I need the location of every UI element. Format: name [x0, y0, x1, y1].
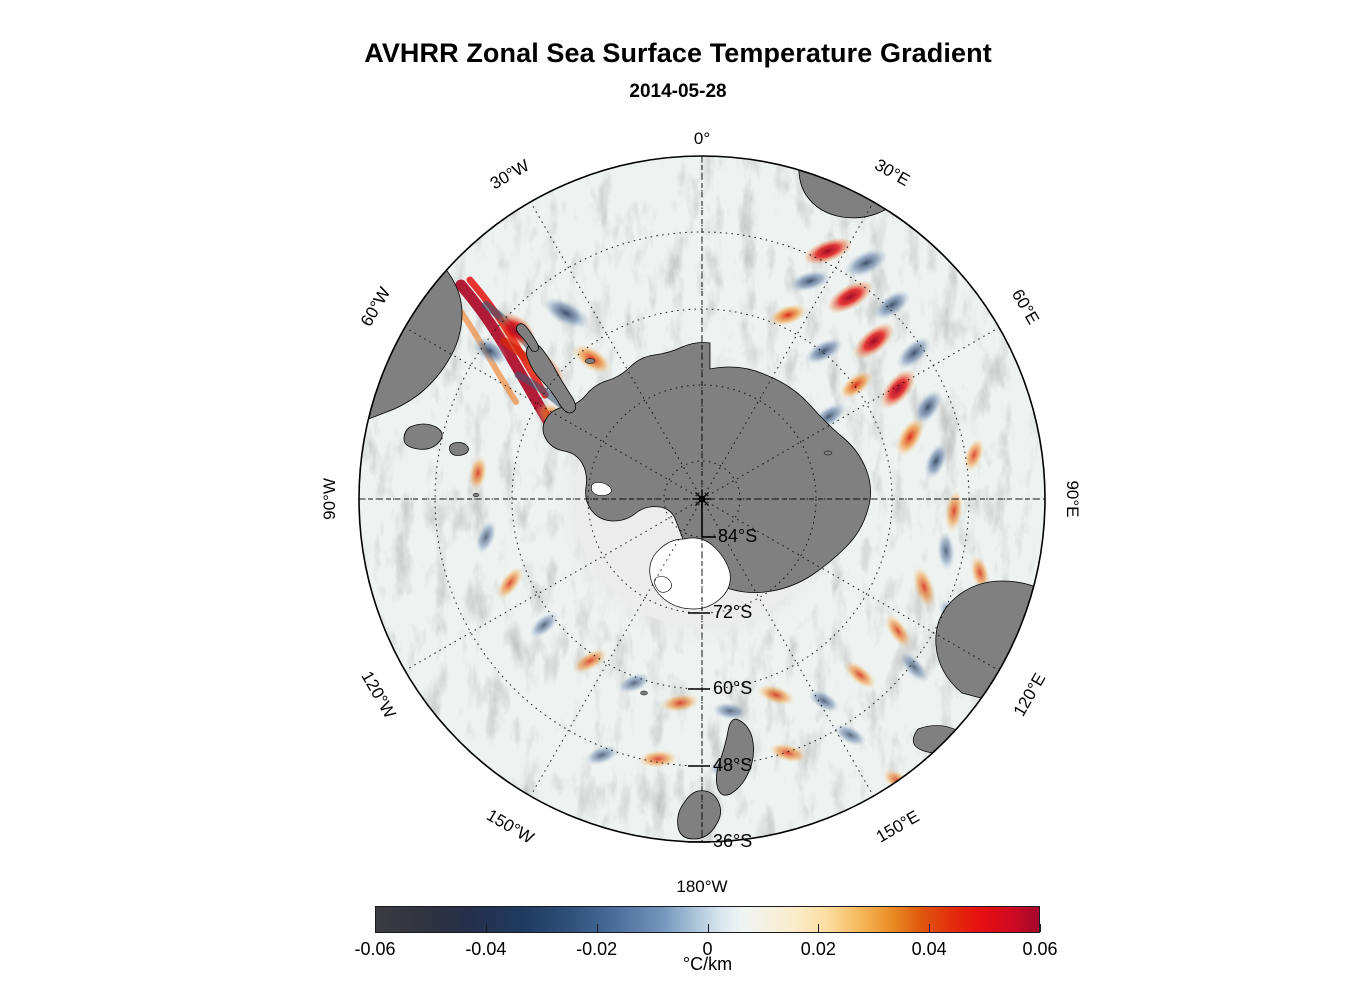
- colorbar: -0.06 -0.04 -0.02 0 0.02 0.04 0.06 °C/km: [375, 906, 1040, 965]
- lat-label-60s: 60°S: [713, 678, 752, 699]
- lon-label-90e: 90°E: [1062, 480, 1082, 517]
- cb-tick-mark: [929, 924, 930, 932]
- lon-label-0: 0°: [694, 129, 710, 149]
- lat-label-48s: 48°S: [713, 755, 752, 776]
- cb-tick-mark: [1040, 924, 1041, 932]
- cb-tick-mark: [486, 924, 487, 932]
- figure-subtitle-date: 2014-05-28: [0, 80, 1356, 104]
- lat-label-36s: 36°S: [713, 831, 752, 852]
- page-title: AVHRR Zonal Sea Surface Temperature Grad…: [0, 36, 1356, 70]
- cb-tick-mark: [375, 924, 376, 932]
- colorbar-unit-label: °C/km: [375, 954, 1040, 975]
- lat-label-72s: 72°S: [713, 602, 752, 623]
- figure-title-block: AVHRR Zonal Sea Surface Temperature Grad…: [0, 36, 1356, 104]
- cb-tick-mark: [597, 924, 598, 932]
- polar-map: 0° 30°E 60°E 90°E 120°E 150°E 180°W 150°…: [358, 155, 1046, 843]
- lat-label-84s: 84°S: [718, 526, 757, 547]
- lon-label-90w: 90°W: [320, 478, 340, 520]
- cb-tick-mark: [708, 924, 709, 932]
- cb-tick-mark: [818, 924, 819, 932]
- lon-label-180w: 180°W: [676, 877, 727, 897]
